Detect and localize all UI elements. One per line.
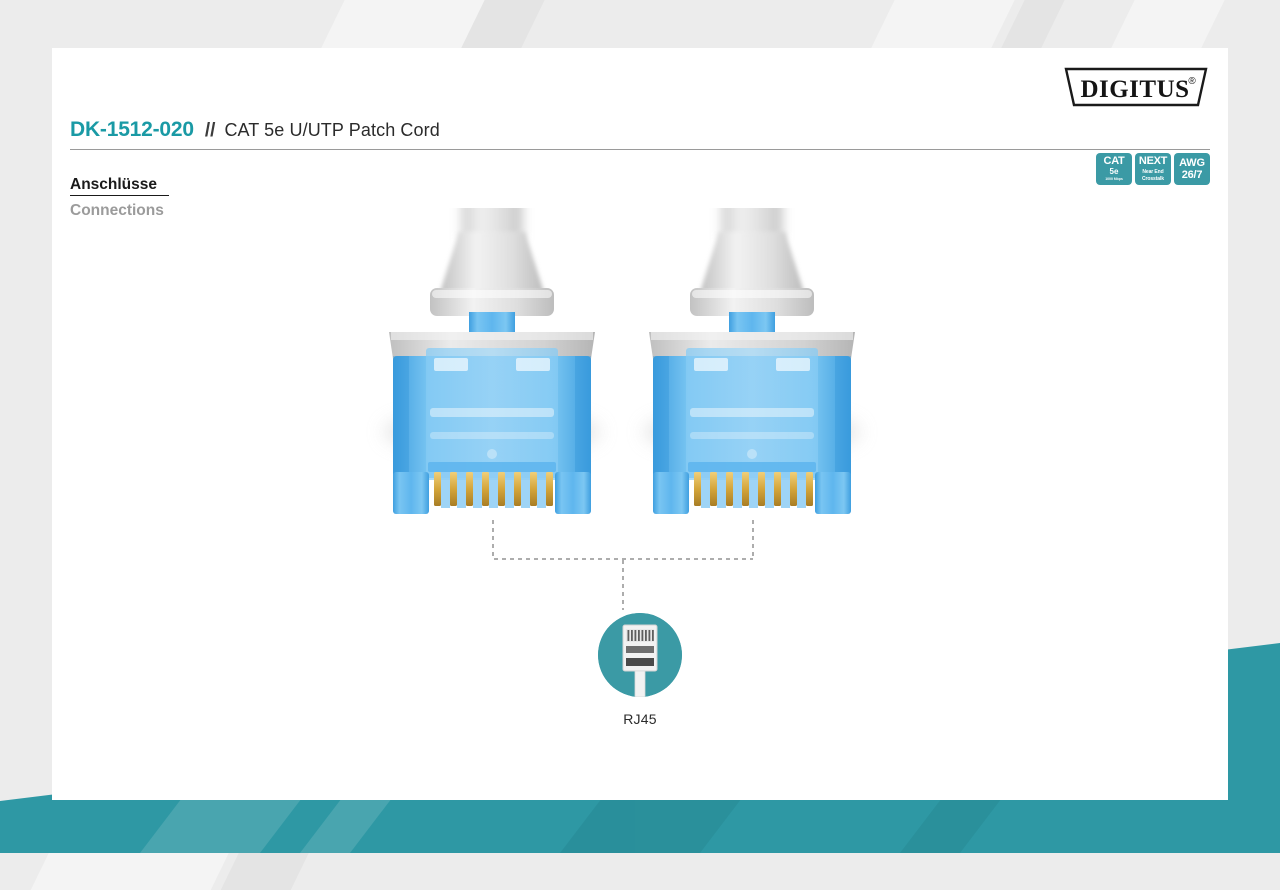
dot-line-left-vertical bbox=[492, 518, 494, 558]
cat-badge-speed: 1000 Mbps bbox=[1105, 178, 1122, 182]
cat-badge: CAT 5e 1000 Mbps bbox=[1096, 153, 1132, 185]
cat-badge-main: CAT bbox=[1104, 156, 1125, 167]
next-badge-sub-line2: Crosstalk bbox=[1142, 176, 1164, 182]
title-row: DK-1512-020 // CAT 5e U/UTP Patch Cord bbox=[70, 118, 1210, 142]
rj45-connector-icon bbox=[598, 613, 682, 697]
title-divider bbox=[70, 149, 1210, 150]
next-badge-sub-line1: Near End bbox=[1142, 169, 1163, 175]
spec-badge-row: CAT 5e 1000 Mbps NEXT Near End Crosstalk… bbox=[1096, 153, 1210, 185]
next-badge-main: NEXT bbox=[1139, 156, 1167, 167]
digitus-logo: DIGITUS ® bbox=[1062, 66, 1210, 108]
title-separator: // bbox=[205, 120, 216, 142]
rj45-callout: RJ45 bbox=[52, 613, 1228, 727]
awg-badge-main: AWG bbox=[1179, 158, 1205, 169]
page-title: CAT 5e U/UTP Patch Cord bbox=[224, 120, 439, 141]
product-sku: DK-1512-020 bbox=[70, 118, 194, 142]
logo-text: DIGITUS bbox=[1080, 76, 1189, 103]
section-heading-de: Anschlüsse bbox=[70, 176, 169, 196]
dot-line-center-vertical bbox=[622, 558, 624, 610]
rj45-connector-left bbox=[384, 208, 600, 514]
next-badge: NEXT Near End Crosstalk bbox=[1135, 153, 1171, 185]
awg-badge-number: 26/7 bbox=[1182, 170, 1203, 181]
cat-badge-sub: 5e bbox=[1110, 168, 1119, 176]
rj45-label: RJ45 bbox=[52, 711, 1228, 727]
logo-registered-mark: ® bbox=[1188, 76, 1196, 87]
content-card: DIGITUS ® DK-1512-020 // CAT 5e U/UTP Pa… bbox=[52, 48, 1228, 800]
dot-line-right-vertical bbox=[752, 518, 754, 558]
rj45-connector-right bbox=[644, 208, 860, 514]
awg-badge: AWG 26/7 bbox=[1174, 153, 1210, 185]
